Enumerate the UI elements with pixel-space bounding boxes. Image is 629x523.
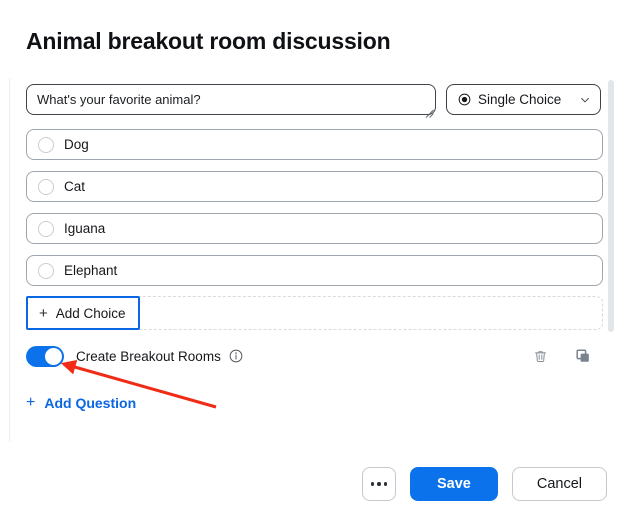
add-choice-strip: + Add Choice <box>26 296 603 330</box>
choice-list: Dog Cat Iguana Elephant <box>26 129 603 286</box>
create-breakout-rooms-row: Create Breakout Rooms <box>26 345 603 367</box>
dot <box>377 482 381 486</box>
radio-empty-icon <box>38 179 54 195</box>
questions-scroll-area: Single Choice Dog Cat Iguana <box>9 78 621 442</box>
radio-empty-icon <box>38 221 54 237</box>
dot <box>384 482 388 486</box>
radio-selected-icon <box>458 93 471 106</box>
scrollbar[interactable] <box>608 80 614 435</box>
dot <box>371 482 375 486</box>
choice-row[interactable]: Elephant <box>26 255 603 286</box>
choice-label: Iguana <box>64 221 105 236</box>
create-breakout-rooms-label: Create Breakout Rooms <box>76 349 221 364</box>
choice-label: Elephant <box>64 263 117 278</box>
dialog-footer: Save Cancel <box>362 467 607 501</box>
scrollbar-thumb[interactable] <box>608 80 614 332</box>
page-title: Animal breakout room discussion <box>26 28 629 55</box>
choice-row[interactable]: Cat <box>26 171 603 202</box>
question-type-select[interactable]: Single Choice <box>446 84 601 115</box>
choice-label: Dog <box>64 137 89 152</box>
question-input[interactable] <box>26 84 436 115</box>
question-editor-dialog: Animal breakout room discussion <box>0 0 629 523</box>
question-text-wrapper <box>26 84 436 120</box>
radio-empty-icon <box>38 137 54 153</box>
plus-icon: + <box>39 306 48 321</box>
choice-row[interactable]: Iguana <box>26 213 603 244</box>
trash-icon[interactable] <box>531 347 549 365</box>
copy-icon[interactable] <box>574 347 592 365</box>
toggle-knob <box>45 348 62 365</box>
add-choice-label: Add Choice <box>56 306 126 321</box>
question-block: Single Choice Dog Cat Iguana <box>26 84 603 412</box>
question-type-value: Single Choice <box>478 92 572 107</box>
plus-icon: + <box>26 395 35 411</box>
choice-label: Cat <box>64 179 85 194</box>
create-breakout-rooms-toggle[interactable] <box>26 346 64 367</box>
choice-row[interactable]: Dog <box>26 129 603 160</box>
question-header-row: Single Choice <box>26 84 603 120</box>
cancel-button[interactable]: Cancel <box>512 467 607 501</box>
info-icon[interactable] <box>229 349 243 363</box>
add-question-button[interactable]: + Add Question <box>26 395 136 411</box>
more-options-button[interactable] <box>362 467 396 501</box>
add-choice-button[interactable]: + Add Choice <box>26 296 140 330</box>
chevron-down-icon <box>579 94 591 106</box>
add-question-label: Add Question <box>44 395 136 411</box>
radio-empty-icon <box>38 263 54 279</box>
question-row-actions <box>531 347 603 365</box>
save-button[interactable]: Save <box>410 467 498 501</box>
